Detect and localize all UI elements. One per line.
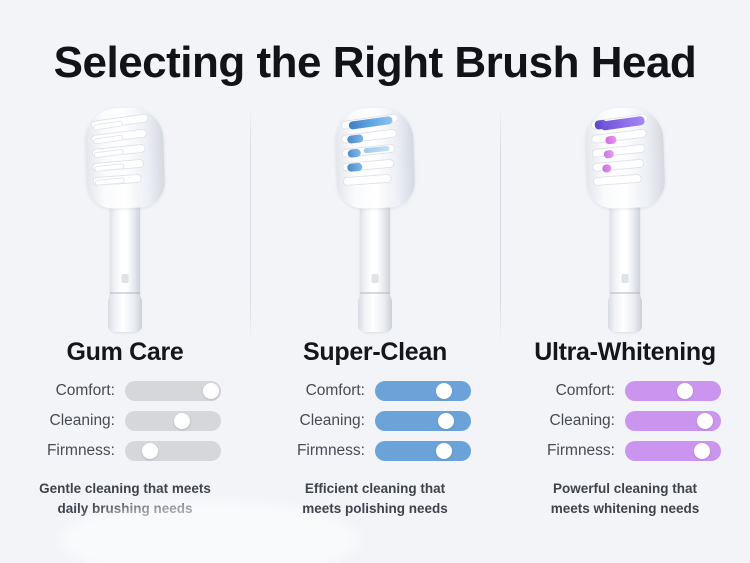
bristle-row (591, 144, 646, 159)
product-caption-ultra-whitening: Powerful cleaning that meets whitening n… (520, 479, 730, 518)
product-column-super-clean[interactable]: Super-Clean Comfort: Cleaning: Firmness: (250, 104, 500, 534)
spec-row-firmness: Firmness: (279, 441, 471, 461)
brush-handle-detail-icon (372, 274, 379, 283)
brush-head-icon (584, 107, 665, 210)
slider-knob[interactable] (436, 443, 452, 459)
product-column-gum-care[interactable]: Gum Care Comfort: Cleaning: Firmness: (0, 104, 250, 534)
bristle-accent (347, 149, 361, 158)
spec-row-comfort: Comfort: (279, 381, 471, 401)
product-caption-super-clean: Efficient cleaning that meets polishing … (270, 479, 480, 518)
brush-illustration (327, 104, 423, 332)
product-column-ultra-whitening[interactable]: Ultra-Whitening Comfort: Cleaning: Firmn… (500, 104, 750, 534)
spec-slider-cleaning[interactable] (125, 411, 221, 431)
spec-slider-firmness[interactable] (375, 441, 471, 461)
bristle-group (341, 117, 406, 199)
brush-handle-detail-icon (622, 274, 629, 283)
spec-list-gum-care: Comfort: Cleaning: Firmness: (29, 381, 221, 461)
bristle-accent (605, 135, 617, 144)
spec-row-firmness: Firmness: (529, 441, 721, 461)
spec-label-firmness: Firmness: (279, 442, 365, 460)
bristle-tuft (95, 177, 125, 186)
slider-knob[interactable] (142, 443, 158, 459)
brush-head-image-gum-care (0, 104, 250, 336)
spec-label-comfort: Comfort: (279, 382, 365, 400)
product-name-gum-care: Gum Care (66, 338, 183, 367)
slider-knob[interactable] (174, 413, 190, 429)
brush-head-image-ultra-whitening (500, 104, 750, 336)
brush-illustration (77, 104, 173, 332)
spec-label-firmness: Firmness: (29, 442, 115, 460)
bristle-row (591, 128, 648, 144)
spec-row-comfort: Comfort: (29, 381, 221, 401)
spec-list-super-clean: Comfort: Cleaning: Firmness: (279, 381, 471, 461)
product-columns: Gum Care Comfort: Cleaning: Firmness: (0, 104, 750, 534)
bristle-accent (603, 150, 614, 159)
slider-knob[interactable] (436, 383, 452, 399)
spec-slider-firmness[interactable] (625, 441, 721, 461)
bristle-row (592, 159, 645, 172)
spec-slider-firmness[interactable] (125, 441, 221, 461)
bristle-group (591, 117, 656, 199)
caption-line: meets polishing needs (302, 501, 448, 516)
brush-illustration (577, 104, 673, 332)
slider-knob[interactable] (677, 383, 693, 399)
spec-slider-cleaning[interactable] (375, 411, 471, 431)
slider-knob[interactable] (438, 413, 454, 429)
spec-list-ultra-whitening: Comfort: Cleaning: Firmness: (529, 381, 721, 461)
spec-row-comfort: Comfort: (529, 381, 721, 401)
spec-slider-comfort[interactable] (375, 381, 471, 401)
spec-label-cleaning: Cleaning: (279, 412, 365, 430)
slider-knob[interactable] (694, 443, 710, 459)
caption-line: meets whitening needs (551, 501, 700, 516)
spec-label-comfort: Comfort: (29, 382, 115, 400)
brush-head-icon (84, 107, 165, 210)
brush-handle-ring-icon (360, 292, 390, 294)
caption-line: Gentle cleaning that meets (39, 481, 211, 496)
bristle-accent (347, 134, 364, 144)
brush-handle-ring-icon (610, 292, 640, 294)
spec-row-firmness: Firmness: (29, 441, 221, 461)
page-title: Selecting the Right Brush Head (0, 38, 750, 88)
bristle-row (592, 174, 642, 186)
product-name-ultra-whitening: Ultra-Whitening (534, 338, 716, 367)
spec-row-cleaning: Cleaning: (279, 411, 471, 431)
caption-line: Efficient cleaning that (305, 481, 445, 496)
spec-label-firmness: Firmness: (529, 442, 615, 460)
bristle-accent (602, 164, 612, 173)
brush-head-image-super-clean (250, 104, 500, 336)
brush-handle-ring-icon (110, 292, 140, 294)
spec-row-cleaning: Cleaning: (529, 411, 721, 431)
bristle-group (91, 117, 156, 199)
infographic-page: Selecting the Right Brush Head (0, 0, 750, 563)
bristle-row (342, 174, 392, 186)
spec-slider-comfort[interactable] (125, 381, 221, 401)
brush-handle-detail-icon (122, 274, 129, 283)
spec-slider-comfort[interactable] (625, 381, 721, 401)
slider-knob[interactable] (203, 383, 219, 399)
caption-line: Powerful cleaning that (553, 481, 697, 496)
spec-slider-cleaning[interactable] (625, 411, 721, 431)
slider-knob[interactable] (697, 413, 713, 429)
spec-label-cleaning: Cleaning: (29, 412, 115, 430)
spec-label-comfort: Comfort: (529, 382, 615, 400)
spec-row-cleaning: Cleaning: (29, 411, 221, 431)
brush-head-icon (334, 107, 415, 210)
spec-label-cleaning: Cleaning: (529, 412, 615, 430)
product-name-super-clean: Super-Clean (303, 338, 447, 367)
bristle-accent (348, 116, 393, 130)
